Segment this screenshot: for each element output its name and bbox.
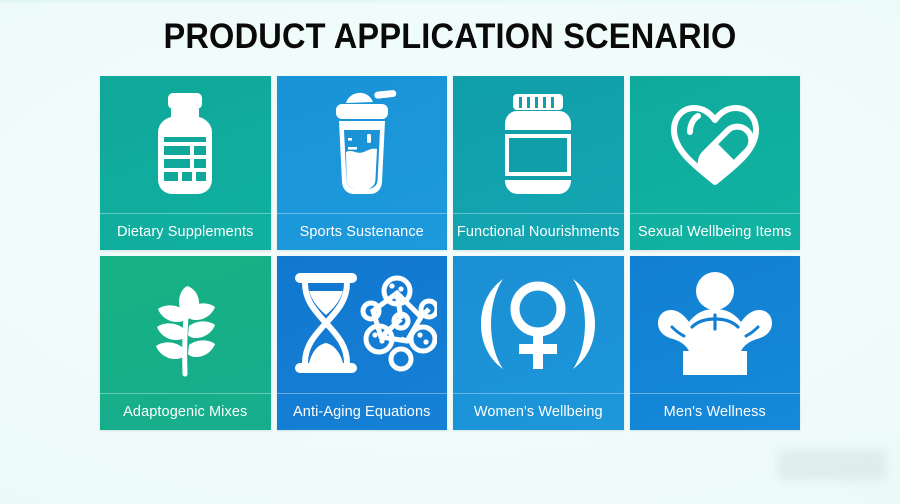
watermark-blur — [778, 450, 886, 480]
tile-label: Dietary Supplements — [100, 214, 271, 250]
shaker-bottle-icon — [277, 76, 448, 213]
page-title: PRODUCT APPLICATION SCENARIO — [32, 17, 869, 57]
tile-label: Functional Nourishments — [453, 214, 624, 250]
tile-sports-sustenance[interactable]: Sports Sustenance — [277, 76, 448, 250]
heart-capsule-icon — [630, 76, 801, 213]
tile-dietary-supplements[interactable]: Dietary Supplements — [100, 76, 271, 250]
protein-jar-icon — [453, 76, 624, 213]
category-grid: Dietary Supplements — [100, 76, 800, 430]
tile-mens-wellness[interactable]: Men's Wellness — [630, 256, 801, 430]
hourglass-molecule-icon — [277, 256, 448, 393]
tile-label: Anti-Aging Equations — [277, 394, 448, 430]
flexing-muscle-man-icon — [630, 256, 801, 393]
tile-womens-wellbeing[interactable]: Women's Wellbeing — [453, 256, 624, 430]
tile-label: Men's Wellness — [630, 394, 801, 430]
tile-label: Sports Sustenance — [277, 214, 448, 250]
herb-leaf-branch-icon — [100, 256, 271, 393]
tile-anti-aging-equations[interactable]: Anti-Aging Equations — [277, 256, 448, 430]
tile-functional-nourishments[interactable]: Functional Nourishments — [453, 76, 624, 250]
tile-label: Women's Wellbeing — [453, 394, 624, 430]
slide-canvas: PRODUCT APPLICATION SCENARIO — [0, 0, 900, 504]
tile-label: Adaptogenic Mixes — [100, 394, 271, 430]
female-symbol-icon — [453, 256, 624, 393]
tile-sexual-wellbeing-items[interactable]: Sexual Wellbeing Items — [630, 76, 801, 250]
tile-adaptogenic-mixes[interactable]: Adaptogenic Mixes — [100, 256, 271, 430]
tile-label: Sexual Wellbeing Items — [630, 214, 801, 250]
supplement-bottle-icon — [100, 76, 271, 213]
